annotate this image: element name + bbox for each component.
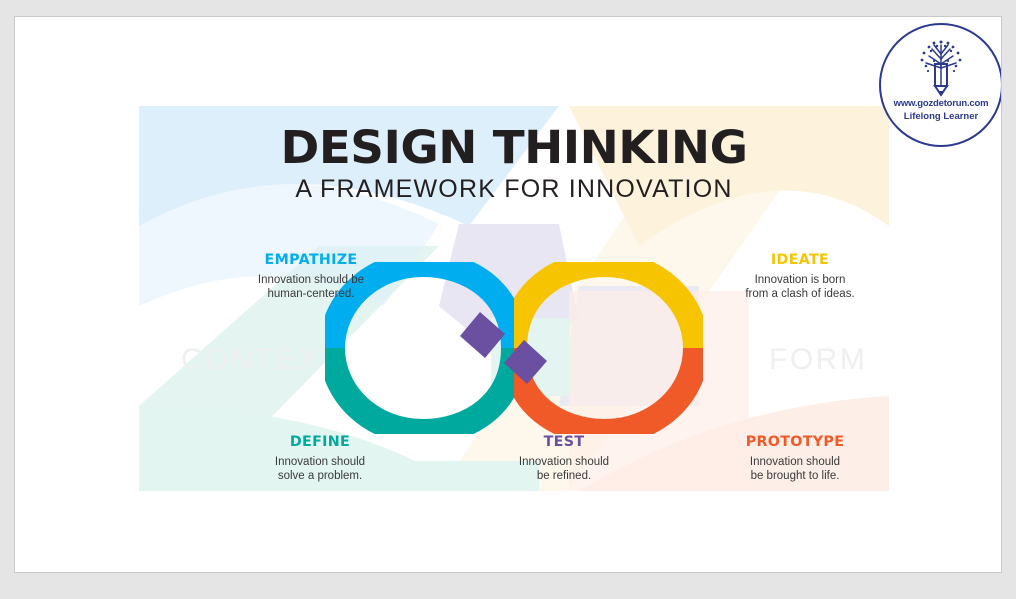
slide-canvas: CONTEXT FORM DESIGN THINKING A FRAMEWORK… [14, 16, 1002, 573]
watermark-context: CONTEXT [181, 343, 342, 377]
heading-block: DESIGN THINKING A FRAMEWORK FOR INNOVATI… [139, 125, 889, 202]
stage-test: TEST Innovation should be refined. [469, 435, 659, 483]
logo-tagline-text: Lifelong Learner [904, 111, 978, 122]
page-title: DESIGN THINKING [139, 125, 889, 170]
stage-prototype-desc-line1: Innovation should [700, 455, 889, 469]
stage-prototype-desc-line2: be brought to life. [700, 469, 889, 483]
stage-define: DEFINE Innovation should solve a problem… [225, 435, 415, 483]
stage-empathize-desc-line1: Innovation should be [216, 273, 406, 287]
logo-url-text: www.gozdetorun.com [894, 98, 989, 109]
stage-prototype: PROTOTYPE Innovation should be brought t… [700, 435, 889, 483]
pencil-tree-icon [910, 37, 972, 97]
pencil-body [935, 64, 947, 95]
page-subtitle: A FRAMEWORK FOR INNOVATION [139, 177, 889, 202]
stage-ideate-desc-line1: Innovation is born [705, 273, 889, 287]
stage-empathize-desc-line2: human-centered. [216, 287, 406, 301]
stage-prototype-label: PROTOTYPE [698, 435, 889, 449]
page-root: CONTEXT FORM DESIGN THINKING A FRAMEWORK… [0, 0, 1016, 599]
watermark-form: FORM [769, 343, 867, 377]
design-thinking-infographic: CONTEXT FORM DESIGN THINKING A FRAMEWORK… [139, 106, 889, 491]
stage-ideate-label: IDEATE [703, 253, 889, 267]
stage-empathize: EMPATHIZE Innovation should be human-cen… [216, 253, 406, 301]
stage-test-desc-line1: Innovation should [469, 455, 659, 469]
stage-ideate-desc-line2: from a clash of ideas. [705, 287, 889, 301]
stage-empathize-label: EMPATHIZE [214, 253, 408, 267]
stage-ideate: IDEATE Innovation is born from a clash o… [705, 253, 889, 301]
stage-define-desc-line1: Innovation should [225, 455, 415, 469]
stage-define-desc-line2: solve a problem. [225, 469, 415, 483]
stage-define-label: DEFINE [223, 435, 417, 449]
stage-test-label: TEST [467, 435, 661, 449]
stage-test-desc-line2: be refined. [469, 469, 659, 483]
brand-logo-badge[interactable]: www.gozdetorun.com Lifelong Learner [879, 23, 1002, 147]
